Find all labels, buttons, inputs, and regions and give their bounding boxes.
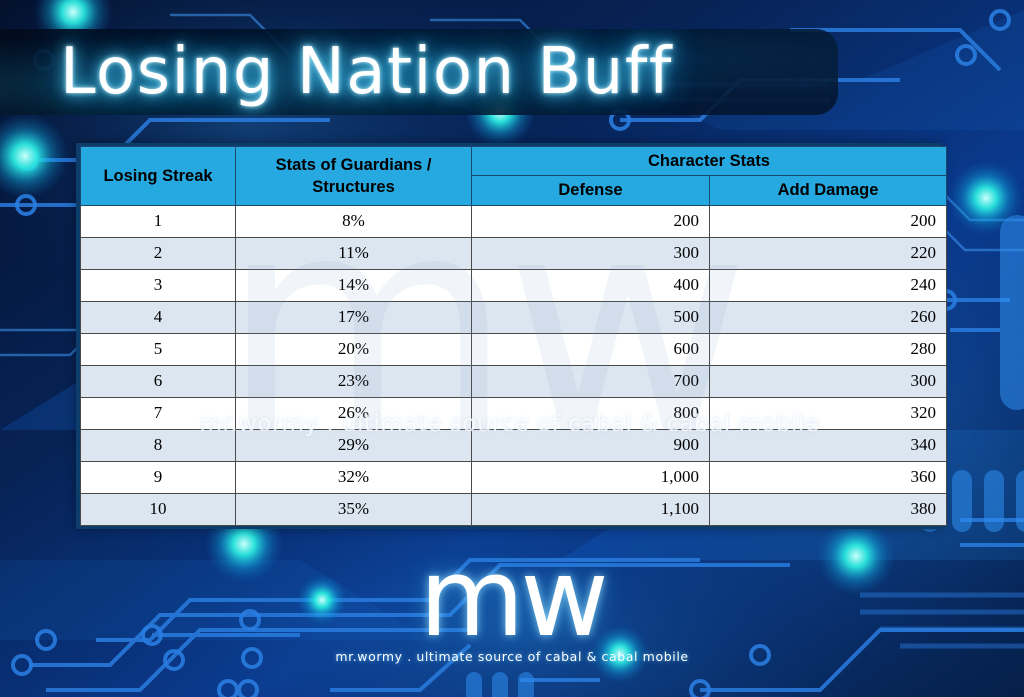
cell-losing-streak: 9 — [81, 461, 236, 493]
cell-losing-streak: 5 — [81, 333, 236, 365]
table-row: 520%600280 — [81, 333, 947, 365]
table-row: 1035%1,100380 — [81, 493, 947, 525]
table-header-row-1: Losing Streak Stats of Guardians / Struc… — [81, 147, 947, 176]
cell-defense: 800 — [472, 397, 710, 429]
cell-guardians-structures: 26% — [236, 397, 472, 429]
cell-guardians-structures: 11% — [236, 237, 472, 269]
column-header-losing-streak: Losing Streak — [81, 147, 236, 206]
table-row: 417%500260 — [81, 301, 947, 333]
cell-guardians-structures: 8% — [236, 205, 472, 237]
cell-add-damage: 320 — [710, 397, 947, 429]
column-header-add-damage: Add Damage — [710, 176, 947, 205]
cell-defense: 1,000 — [472, 461, 710, 493]
title-banner: Losing Nation Buff — [0, 29, 838, 115]
logo-tagline: mr.wormy . ultimate source of cabal & ca… — [0, 649, 1024, 664]
cell-losing-streak: 4 — [81, 301, 236, 333]
cell-losing-streak: 1 — [81, 205, 236, 237]
cell-losing-streak: 7 — [81, 397, 236, 429]
cell-add-damage: 240 — [710, 269, 947, 301]
table-row: 211%300220 — [81, 237, 947, 269]
cell-add-damage: 340 — [710, 429, 947, 461]
cell-losing-streak: 2 — [81, 237, 236, 269]
cell-defense: 300 — [472, 237, 710, 269]
table-row: 726%800320 — [81, 397, 947, 429]
cell-defense: 500 — [472, 301, 710, 333]
cell-add-damage: 300 — [710, 365, 947, 397]
cell-guardians-structures: 35% — [236, 493, 472, 525]
cell-defense: 200 — [472, 205, 710, 237]
table-row: 829%900340 — [81, 429, 947, 461]
table-row: 932%1,000360 — [81, 461, 947, 493]
site-logo: mw mr.wormy . ultimate source of cabal &… — [0, 548, 1024, 664]
cell-defense: 1,100 — [472, 493, 710, 525]
cell-defense: 900 — [472, 429, 710, 461]
losing-nation-buff-table-container: Losing Streak Stats of Guardians / Struc… — [76, 143, 942, 529]
cell-guardians-structures: 14% — [236, 269, 472, 301]
table-head: Losing Streak Stats of Guardians / Struc… — [81, 147, 947, 206]
cell-guardians-structures: 32% — [236, 461, 472, 493]
cell-add-damage: 280 — [710, 333, 947, 365]
cell-defense: 400 — [472, 269, 710, 301]
guardians-header-line1: Stats of Guardians / — [276, 156, 432, 174]
column-header-character-stats: Character Stats — [472, 147, 947, 176]
losing-nation-buff-table: Losing Streak Stats of Guardians / Struc… — [80, 146, 947, 526]
cell-guardians-structures: 23% — [236, 365, 472, 397]
cell-guardians-structures: 20% — [236, 333, 472, 365]
cell-guardians-structures: 29% — [236, 429, 472, 461]
cell-losing-streak: 8 — [81, 429, 236, 461]
cell-add-damage: 200 — [710, 205, 947, 237]
table-body: 18%200200211%300220314%400240417%5002605… — [81, 205, 947, 525]
cell-defense: 700 — [472, 365, 710, 397]
cell-losing-streak: 3 — [81, 269, 236, 301]
cell-add-damage: 260 — [710, 301, 947, 333]
cell-add-damage: 220 — [710, 237, 947, 269]
table-row: 623%700300 — [81, 365, 947, 397]
table-row: 314%400240 — [81, 269, 947, 301]
column-header-defense: Defense — [472, 176, 710, 205]
cell-losing-streak: 6 — [81, 365, 236, 397]
cell-defense: 600 — [472, 333, 710, 365]
cell-add-damage: 380 — [710, 493, 947, 525]
cell-losing-streak: 10 — [81, 493, 236, 525]
page-title: Losing Nation Buff — [60, 35, 673, 109]
logo-mark-mw: mw — [0, 548, 1024, 651]
cell-guardians-structures: 17% — [236, 301, 472, 333]
cell-add-damage: 360 — [710, 461, 947, 493]
table-row: 18%200200 — [81, 205, 947, 237]
column-header-guardians-structures: Stats of Guardians / Structures — [236, 147, 472, 206]
guardians-header-line2: Structures — [312, 178, 395, 196]
